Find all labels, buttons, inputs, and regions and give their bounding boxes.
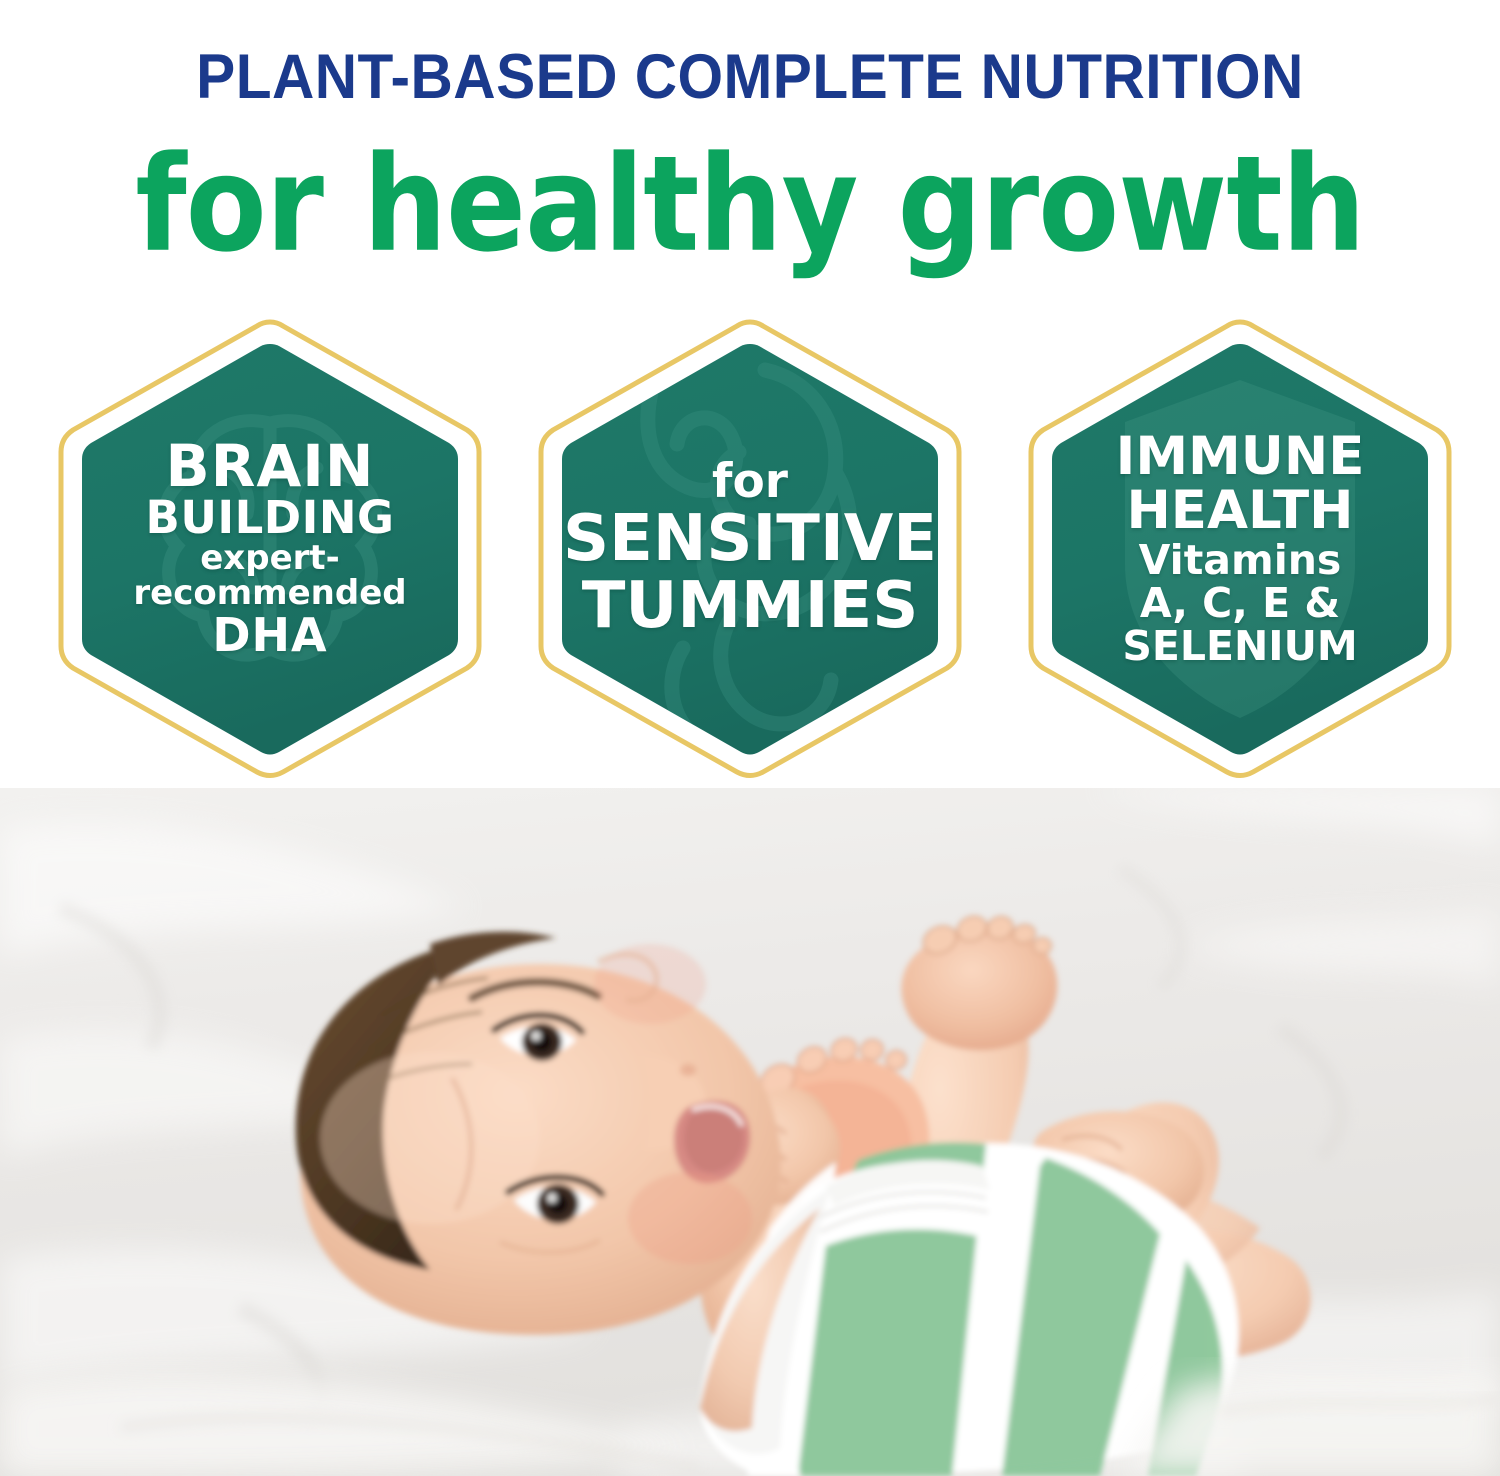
page-title: PLANT-BASED COMPLETE NUTRITION <box>53 44 1448 110</box>
benefit-badge-row: BRAIN BUILDING expert- recommended DHA <box>0 318 1500 788</box>
page-subtitle: for healthy growth <box>0 140 1500 270</box>
badge-sensitive-tummies[interactable]: for SENSITIVE TUMMIES <box>535 318 965 780</box>
baby-on-bed-photo <box>0 788 1500 1476</box>
product-feature-graphic: PLANT-BASED COMPLETE NUTRITION for healt… <box>0 0 1500 1476</box>
badge-immune-health[interactable]: IMMUNE HEALTH Vitamins A, C, E & SELENIU… <box>1025 318 1455 780</box>
headline-block: PLANT-BASED COMPLETE NUTRITION for healt… <box>0 0 1500 300</box>
badge-brain-building[interactable]: BRAIN BUILDING expert- recommended DHA <box>55 318 485 780</box>
